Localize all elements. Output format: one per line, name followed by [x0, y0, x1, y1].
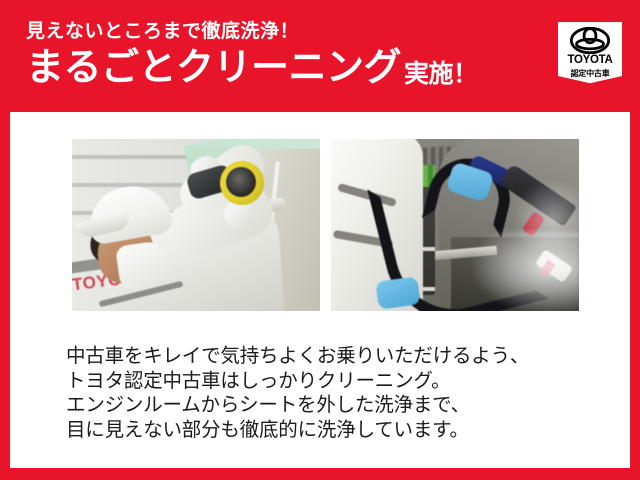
- photo-seat-steam-cleaning: [331, 139, 579, 311]
- body-copy-line-4: 目に見えない部分も徹底的に洗浄しています。: [66, 418, 606, 443]
- body-copy-line-1: 中古車をキレイで気持ちよくお乗りいただけるよう、: [66, 344, 606, 369]
- body-copy-line-3: エンジンルームからシートを外した洗浄まで、: [66, 393, 606, 418]
- body-copy: 中古車をキレイで気持ちよくお乗りいただけるよう、 トヨタ認定中古車はしっかりクリ…: [66, 344, 606, 442]
- photo-exterior-polishing: TOYOTA: [72, 139, 320, 311]
- badge-wordmark: TOYOTA: [567, 55, 612, 67]
- toyota-certified-used-car-badge: TOYOTA 認定中古車: [558, 22, 622, 91]
- poster-body: TOYOTA: [10, 112, 630, 468]
- header-kicker: 見えないところまで徹底洗浄！: [26, 22, 546, 43]
- poster-header: 見えないところまで徹底洗浄！ まるごとクリーニング 実施！ TOYOTA 認定中…: [0, 0, 640, 112]
- header-headline: まるごとクリーニング: [26, 49, 401, 89]
- header-text-block: 見えないところまで徹底洗浄！ まるごとクリーニング 実施！: [26, 22, 546, 89]
- photo-row: TOYOTA: [72, 139, 580, 311]
- cleaning-promo-poster: 見えないところまで徹底洗浄！ まるごとクリーニング 実施！ TOYOTA 認定中…: [0, 0, 640, 480]
- toyota-emblem-icon: [570, 27, 610, 54]
- header-headline-row: まるごとクリーニング 実施！: [26, 49, 546, 89]
- header-headline-suffix: 実施！: [404, 61, 478, 89]
- photo2-steam-plume: [471, 231, 579, 311]
- badge-subtitle: 認定中古車: [571, 70, 610, 78]
- photo1-polisher-hub: [226, 167, 256, 197]
- body-copy-line-2: トヨタ認定中古車はしっかりクリーニング。: [66, 369, 606, 394]
